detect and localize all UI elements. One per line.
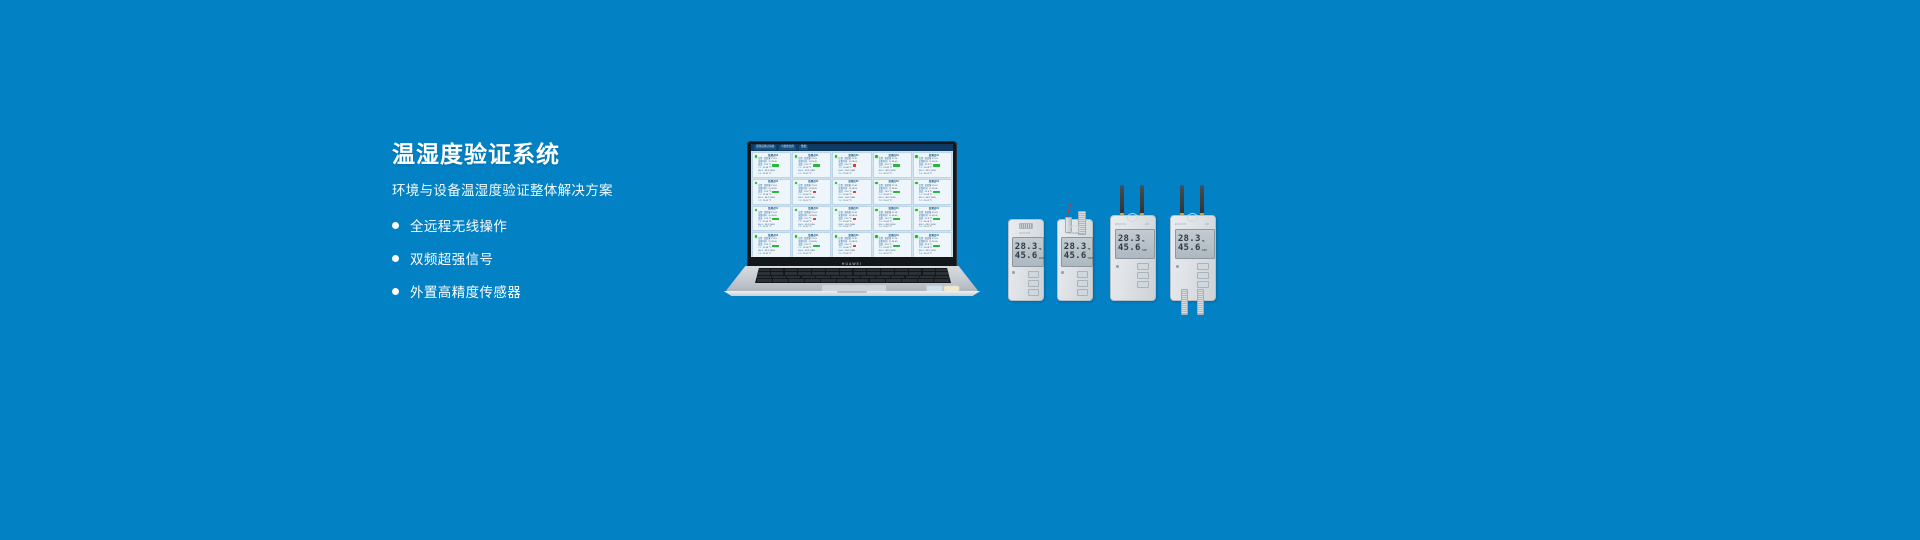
sensor-cell-title: 监测点01 [758, 155, 788, 158]
sensor-cell-field: T-2:25.02 ℃ [838, 226, 868, 229]
sensor-field-key: T-2: [919, 200, 923, 203]
sensor-cell-led-icon [915, 235, 918, 238]
list-item: 双频超强信号 [392, 248, 722, 268]
keyboard-key[interactable] [854, 272, 867, 274]
device-1-button-set[interactable] [1028, 289, 1039, 296]
feature-label: 全远程无线操作 [410, 215, 507, 235]
sensor-cell-led-icon [835, 209, 838, 212]
sensor-cell-field: T-2:25.02 ℃ [798, 226, 828, 229]
sensor-field-key: T-2: [758, 226, 762, 229]
laptop-lid: 温湿度验证系统 可视化监控 数据 监测点01位置:实验室 ZY-01采集时间:1… [747, 141, 957, 270]
sensor-field-value: 25.02 ℃ [803, 173, 812, 176]
sensor-cell-title: 监测点01 [838, 181, 868, 184]
sensor-cell-field: T-2:25.02 ℃ [879, 200, 909, 203]
menu-item-monitor[interactable]: 可视化监控 [779, 145, 796, 150]
keyboard-key[interactable] [757, 269, 770, 271]
device-3-humidity-value: 45.6 [1118, 244, 1141, 253]
sensor-cell-field: T-2:25.02 ℃ [758, 200, 788, 203]
monitoring-app: 温湿度验证系统 可视化监控 数据 监测点01位置:实验室 ZY-01采集时间:1… [751, 144, 953, 257]
keyboard-key[interactable] [757, 276, 771, 278]
device-1-button-down[interactable] [1028, 280, 1039, 287]
sensor-cell[interactable]: 监测点01位置:实验室 ZY-01采集时间:11:28:05温度:23.6 ℃T… [832, 206, 871, 232]
keyboard-key[interactable] [798, 269, 811, 271]
keyboard-key[interactable] [923, 272, 936, 274]
sensor-cell[interactable]: 监测点01位置:实验室 ZY-01采集时间:11:28:05温度:23.6 ℃T… [752, 152, 791, 178]
sensor-cell-led-icon [915, 209, 918, 212]
laptop-product-image: 温湿度验证系统 可视化监控 数据 监测点01位置:实验室 ZY-01采集时间:1… [721, 141, 983, 297]
sensor-cell[interactable]: 监测点01位置:实验室 ZY-01采集时间:11:28:05温度:23.6 ℃T… [752, 206, 791, 232]
device-4-antenna-right [1200, 185, 1204, 215]
keyboard-key[interactable] [846, 276, 860, 278]
sensor-cell[interactable]: 监测点01位置:实验室 ZY-01采集时间:11:28:05温度:23.6 ℃T… [832, 179, 871, 205]
sensor-cell-led-icon [755, 235, 758, 238]
keyboard-key[interactable] [821, 279, 836, 281]
device-2-humidity-row: 45.6 %RH [1064, 252, 1091, 261]
sensor-cell-title: 监测点01 [879, 155, 909, 158]
keyboard-key[interactable] [826, 272, 839, 274]
sensor-field-value: 25.02 ℃ [763, 173, 772, 176]
keyboard-key[interactable] [840, 269, 853, 271]
device-3-button-up[interactable] [1137, 263, 1149, 270]
laptop-screen: 温湿度验证系统 可视化监控 数据 监测点01位置:实验室 ZY-01采集时间:1… [751, 144, 953, 257]
sensor-cell-title: 监测点01 [919, 155, 949, 158]
device-2-humidity-unit: %RH [1088, 258, 1094, 261]
sensor-field-value: 25.02 ℃ [843, 200, 852, 203]
sensor-cell-led-icon [915, 182, 918, 185]
device-3-humidity-unit: %RH [1142, 250, 1148, 253]
keyboard-key[interactable] [812, 269, 825, 271]
keyboard-key[interactable] [785, 272, 798, 274]
sensor-field-key: T-2: [879, 226, 883, 229]
sensor-status-alarm [813, 191, 816, 193]
device-3-button-set[interactable] [1137, 281, 1149, 288]
device-2: ENCON 28.3 ℃ 45.6 %RH [1057, 203, 1091, 301]
laptop-keyboard[interactable] [755, 268, 951, 283]
sensor-cell[interactable]: 监测点01位置:实验室 ZY-01采集时间:11:28:05温度:23.6 ℃T… [873, 152, 912, 178]
device-3-humidity-row: 45.6 %RH [1118, 244, 1152, 253]
keyboard-row [757, 269, 949, 271]
device-4-model-label: HB [1205, 223, 1209, 226]
keyboard-key[interactable] [891, 276, 905, 278]
keyboard-key[interactable] [936, 269, 949, 271]
device-3-button-down[interactable] [1137, 272, 1149, 279]
device-3-antenna-right [1140, 185, 1144, 215]
sensor-cell-led-icon [795, 182, 798, 185]
sensor-cell[interactable]: 监测点01位置:实验室 ZY-01采集时间:11:28:05温度:23.6 ℃T… [913, 232, 952, 257]
sensor-field-key: T-2: [919, 173, 923, 176]
sensor-cell-title: 监测点01 [838, 208, 868, 211]
keyboard-key[interactable] [837, 279, 852, 281]
device-1-display: 28.3 ℃ 45.6 %RH [1012, 237, 1045, 267]
keyboard-key[interactable] [909, 269, 922, 271]
bullet-dot-icon [392, 222, 399, 229]
sensor-field-value: 25.02 ℃ [803, 200, 812, 203]
sensor-status-ok [933, 191, 940, 193]
laptop-open-notch [837, 291, 867, 293]
sensor-cell-led-icon [835, 235, 838, 238]
sensor-status-alarm [853, 245, 856, 247]
sensor-field-value: 25.02 ℃ [924, 173, 933, 176]
laptop-base [721, 266, 983, 297]
sensor-field-key: T-2: [798, 226, 802, 229]
keyboard-key[interactable] [816, 276, 830, 278]
sensor-cell[interactable]: 监测点01位置:实验室 ZY-01采集时间:11:28:05温度:23.6 ℃T… [792, 179, 831, 205]
sensor-status-ok [772, 191, 779, 193]
keyboard-key[interactable] [886, 279, 901, 281]
sensor-field-key: T-2: [758, 253, 762, 256]
keyboard-key[interactable] [772, 276, 786, 278]
sensor-field-key: T-2: [758, 173, 762, 176]
sensor-status-ok [893, 191, 900, 193]
keyboard-row [757, 272, 949, 274]
sensor-status-ok [813, 245, 820, 247]
device-4-humidity-unit: %RH [1202, 250, 1208, 253]
keyboard-key[interactable] [876, 276, 890, 278]
device-4-button-down[interactable] [1197, 272, 1209, 279]
menu-item-system[interactable]: 温湿度验证系统 [754, 145, 776, 150]
keyboard-key[interactable] [867, 272, 880, 274]
device-1-vent-icon [1019, 223, 1033, 229]
device-4-humidity-value: 45.6 [1178, 244, 1201, 253]
sensor-cell-led-icon [755, 155, 758, 158]
device-4-humidity-row: 45.6 %RH [1178, 244, 1212, 253]
sensor-cell-field: T-2:25.02 ℃ [879, 253, 909, 256]
sensor-cell-title: 监测点01 [919, 208, 949, 211]
sensor-cell[interactable]: 监测点01位置:实验室 ZY-01采集时间:11:28:05温度:23.6 ℃T… [832, 152, 871, 178]
sensor-field-value: 25.02 ℃ [924, 200, 933, 203]
keyboard-key[interactable] [902, 279, 917, 281]
sensor-cell[interactable]: 监测点01位置:实验室 ZY-01采集时间:11:28:05温度:23.6 ℃T… [792, 206, 831, 232]
sensor-field-key: T-2: [798, 253, 802, 256]
sensor-cell-led-icon [795, 155, 798, 158]
sensor-field-key: T-2: [919, 226, 923, 229]
sensor-field-key: T-2: [919, 253, 923, 256]
sensor-cell-field: T-2:25.02 ℃ [798, 200, 828, 203]
sensor-cell-led-icon [795, 209, 798, 212]
device-2-status-led [1061, 271, 1064, 274]
device-1-button-up[interactable] [1028, 271, 1039, 278]
sensor-status-ok [813, 164, 820, 166]
sensor-field-value: 25.02 ℃ [843, 253, 852, 256]
sensor-field-value: 25.02 ℃ [803, 253, 812, 256]
keyboard-key[interactable] [923, 269, 936, 271]
feature-list: 全远程无线操作 双频超强信号 外置高精度传感器 [392, 215, 722, 301]
device-3-top-marks: ENCON HB [1110, 223, 1154, 226]
keyboard-key[interactable] [867, 269, 880, 271]
sensor-field-key: T-2: [879, 173, 883, 176]
bullet-dot-icon [392, 288, 399, 295]
keyboard-key[interactable] [831, 276, 845, 278]
sensor-grid: 监测点01位置:实验室 ZY-01采集时间:11:28:05温度:23.6 ℃T… [751, 151, 953, 257]
sensor-cell-led-icon [875, 182, 878, 185]
device-2-display: 28.3 ℃ 45.6 %RH [1061, 237, 1094, 267]
page-title: 温湿度验证系统 [392, 141, 722, 169]
keyboard-key[interactable] [895, 269, 908, 271]
keyboard-key[interactable] [906, 276, 920, 278]
sensor-cell-field: T-2:25.02 ℃ [798, 173, 828, 176]
sensor-field-value: 25.02 ℃ [803, 226, 812, 229]
keyboard-key[interactable] [936, 272, 949, 274]
sensor-field-key: T-2: [838, 173, 842, 176]
sensor-field-value: 25.02 ℃ [883, 200, 892, 203]
sensor-status-ok [772, 164, 779, 166]
keyboard-key[interactable] [854, 269, 867, 271]
sensor-status-alarm [853, 191, 856, 193]
sensor-cell-field: T-2:25.02 ℃ [838, 200, 868, 203]
sensor-cell-field: T-2:25.02 ℃ [919, 226, 949, 229]
laptop-brand-logo: HUAWEI [842, 262, 862, 266]
sensor-status-alarm [813, 218, 816, 220]
sensor-status-ok [893, 218, 900, 220]
sensor-cell-title: 监测点01 [798, 155, 828, 158]
keyboard-key[interactable] [757, 279, 772, 281]
keyboard-key[interactable] [854, 279, 869, 281]
sensor-field-key: T-2: [798, 200, 802, 203]
sensor-cell-title: 监测点01 [758, 208, 788, 211]
keyboard-key[interactable] [789, 279, 804, 281]
sensor-status-ok [772, 218, 779, 220]
device-4-display: 28.3 ℃ 45.6 %RH [1175, 229, 1215, 259]
device-4-probe-left [1181, 289, 1188, 315]
sensor-cell-title: 监测点01 [919, 181, 949, 184]
device-3: ENCON HB 28.3 ℃ 45.6 %RH [1110, 185, 1154, 301]
sensor-cell-led-icon [835, 182, 838, 185]
sensor-field-value: 25.02 ℃ [883, 173, 892, 176]
device-3-display: 28.3 ℃ 45.6 %RH [1115, 229, 1155, 259]
device-1: ENCON 28.3 ℃ 45.6 %RH [1008, 221, 1042, 301]
keyboard-row [757, 276, 949, 278]
sensor-field-value: 25.02 ℃ [924, 253, 933, 256]
keyboard-key[interactable] [909, 272, 922, 274]
keyboard-key[interactable] [840, 272, 853, 274]
keyboard-key[interactable] [771, 272, 784, 274]
device-2-humidity-value: 45.6 [1064, 252, 1087, 261]
app-menubar: 温湿度验证系统 可视化监控 数据 [751, 144, 953, 151]
sensor-status-ok [893, 245, 900, 247]
device-2-button-up[interactable] [1077, 271, 1088, 278]
sensor-cell-field: T-2:25.02 ℃ [919, 253, 949, 256]
device-4-probe-right [1197, 289, 1204, 315]
sensor-cell-led-icon [875, 235, 878, 238]
sensor-status-ok [933, 218, 940, 220]
sensor-field-key: T-2: [879, 253, 883, 256]
device-2-button-set[interactable] [1077, 289, 1088, 296]
laptop-sticker-badge [943, 285, 960, 292]
sensor-cell[interactable]: 监测点01位置:实验室 ZY-01采集时间:11:28:05温度:23.6 ℃T… [873, 206, 912, 232]
keyboard-key[interactable] [935, 276, 949, 278]
sensor-cell-title: 监测点01 [879, 181, 909, 184]
device-4-status-led [1176, 265, 1179, 268]
sensor-cell[interactable]: 监测点01位置:实验室 ZY-01采集时间:11:28:05温度:23.6 ℃T… [913, 152, 952, 178]
sensor-cell-field: T-2:25.02 ℃ [919, 173, 949, 176]
sensor-field-value: 25.02 ℃ [924, 226, 933, 229]
sensor-cell[interactable]: 监测点01位置:实验室 ZY-01采集时间:11:28:05温度:23.6 ℃T… [873, 179, 912, 205]
keyboard-key[interactable] [826, 269, 839, 271]
sensor-field-key: T-2: [838, 253, 842, 256]
sensor-field-key: T-2: [838, 226, 842, 229]
device-4-antenna-left [1180, 185, 1184, 215]
bullet-dot-icon [392, 255, 399, 262]
sensor-field-key: T-2: [879, 200, 883, 203]
sensor-cell[interactable]: 监测点01位置:实验室 ZY-01采集时间:11:28:05温度:23.6 ℃T… [752, 179, 791, 205]
keyboard-key[interactable] [798, 272, 811, 274]
device-4-top-marks: ENCON HB [1170, 223, 1214, 226]
sensor-cell-field: T-2:25.02 ℃ [798, 253, 828, 256]
sensor-cell-title: 监测点01 [838, 155, 868, 158]
device-4-hanger-loop [1187, 213, 1198, 222]
sensor-field-value: 25.02 ℃ [843, 226, 852, 229]
sensor-status-ok [933, 164, 940, 166]
device-4-brand-label: ENCON [1175, 223, 1186, 226]
menu-item-data[interactable]: 数据 [799, 145, 808, 150]
sensor-status-alarm [853, 164, 856, 166]
sensor-cell[interactable]: 监测点01位置:实验室 ZY-01采集时间:11:28:05温度:23.6 ℃T… [832, 232, 871, 257]
sensor-field-key: T-2: [758, 200, 762, 203]
sensor-cell[interactable]: 监测点01位置:实验室 ZY-01采集时间:11:28:05温度:23.6 ℃T… [752, 232, 791, 257]
device-1-humidity-row: 45.6 %RH [1015, 252, 1042, 261]
sensor-cell-field: T-2:25.02 ℃ [758, 253, 788, 256]
sensor-field-key: T-2: [798, 173, 802, 176]
keyboard-key[interactable] [870, 279, 885, 281]
sensor-field-value: 25.02 ℃ [763, 226, 772, 229]
keyboard-key[interactable] [861, 276, 875, 278]
sensor-cell[interactable]: 监测点01位置:实验室 ZY-01采集时间:11:28:05温度:23.6 ℃T… [792, 152, 831, 178]
sensor-cell-field: T-2:25.02 ℃ [838, 253, 868, 256]
device-3-brand-label: ENCON [1115, 223, 1126, 226]
sensor-cell-led-icon [915, 155, 918, 158]
device-1-humidity-value: 45.6 [1015, 252, 1038, 261]
sensor-cell[interactable]: 监测点01位置:实验室 ZY-01采集时间:11:28:05温度:23.6 ℃T… [913, 206, 952, 232]
keyboard-key[interactable] [881, 269, 894, 271]
sensor-status-alarm [853, 218, 856, 220]
sensor-cell-field: T-2:25.02 ℃ [758, 226, 788, 229]
keyboard-key[interactable] [773, 279, 788, 281]
sensor-cell-title: 监测点01 [758, 181, 788, 184]
keyboard-key[interactable] [881, 272, 894, 274]
keyboard-key[interactable] [757, 272, 770, 274]
device-1-humidity-unit: %RH [1039, 258, 1045, 261]
page-subtitle: 环境与设备温湿度验证整体解决方案 [392, 182, 722, 200]
sensor-cell-field: T-2:25.02 ℃ [919, 200, 949, 203]
sensor-device-group: ENCON 28.3 ℃ 45.6 %RH ENC [1000, 180, 1220, 315]
sensor-cell-title: 监测点01 [798, 208, 828, 211]
device-4-button-set[interactable] [1197, 281, 1209, 288]
sensor-status-ok [893, 164, 900, 166]
keyboard-key[interactable] [771, 269, 784, 271]
banner-copy: 温湿度验证系统 环境与设备温湿度验证整体解决方案 全远程无线操作 双频超强信号 … [392, 141, 722, 314]
sensor-cell[interactable]: 监测点01位置:实验室 ZY-01采集时间:11:28:05温度:23.6 ℃T… [913, 179, 952, 205]
keyboard-key[interactable] [805, 279, 820, 281]
sensor-cell[interactable]: 监测点01位置:实验室 ZY-01采集时间:11:28:05温度:23.6 ℃T… [792, 232, 831, 257]
sensor-field-key: T-2: [838, 200, 842, 203]
list-item: 全远程无线操作 [392, 215, 722, 235]
device-4-button-up[interactable] [1197, 263, 1209, 270]
device-1-status-led [1012, 271, 1015, 274]
sensor-status-ok [772, 245, 779, 247]
sensor-field-value: 25.02 ℃ [843, 173, 852, 176]
keyboard-key[interactable] [918, 279, 933, 281]
sensor-field-value: 25.02 ℃ [883, 253, 892, 256]
sensor-status-ok [933, 245, 940, 247]
keyboard-key[interactable] [812, 272, 825, 274]
sensor-field-value: 25.02 ℃ [763, 253, 772, 256]
keyboard-row [757, 279, 949, 281]
sensor-field-value: 25.02 ℃ [883, 226, 892, 229]
list-item: 外置高精度传感器 [392, 281, 722, 301]
sensor-cell-led-icon [835, 155, 838, 158]
device-3-model-label: HB [1145, 223, 1149, 226]
sensor-cell-led-icon [875, 155, 878, 158]
keyboard-key[interactable] [920, 276, 934, 278]
sensor-field-value: 25.02 ℃ [763, 200, 772, 203]
promo-banner: 温湿度验证系统 环境与设备温湿度验证整体解决方案 全远程无线操作 双频超强信号 … [0, 0, 1920, 540]
device-2-brand-label: ENCON [1057, 232, 1091, 235]
device-3-antenna-left [1120, 185, 1124, 215]
sensor-cell-field: T-2:25.02 ℃ [879, 173, 909, 176]
device-2-button-down[interactable] [1077, 280, 1088, 287]
sensor-cell-title: 监测点01 [798, 181, 828, 184]
feature-label: 双频超强信号 [410, 248, 493, 268]
sensor-cell[interactable]: 监测点01位置:实验室 ZY-01采集时间:11:28:05温度:23.6 ℃T… [873, 232, 912, 257]
keyboard-key[interactable] [895, 272, 908, 274]
laptop-sticker-spec [926, 285, 943, 292]
sensor-cell-field: T-2:25.02 ℃ [838, 173, 868, 176]
keyboard-key[interactable] [787, 276, 801, 278]
sensor-cell-field: T-2:25.02 ℃ [879, 226, 909, 229]
feature-label: 外置高精度传感器 [410, 281, 521, 301]
keyboard-key[interactable] [785, 269, 798, 271]
device-3-hanger-loop [1127, 213, 1138, 222]
device-4: ENCON HB 28.3 ℃ 45.6 %RH [1170, 185, 1214, 315]
sensor-cell-field: T-2:25.02 ℃ [758, 173, 788, 176]
sensor-cell-led-icon [755, 209, 758, 212]
device-1-brand-label: ENCON [1008, 232, 1042, 235]
keyboard-key[interactable] [934, 279, 949, 281]
sensor-cell-led-icon [755, 182, 758, 185]
sensor-cell-title: 监测点01 [879, 208, 909, 211]
sensor-cell-led-icon [875, 209, 878, 212]
device-3-status-led [1116, 265, 1119, 268]
keyboard-key[interactable] [802, 276, 816, 278]
sensor-cell-led-icon [795, 235, 798, 238]
